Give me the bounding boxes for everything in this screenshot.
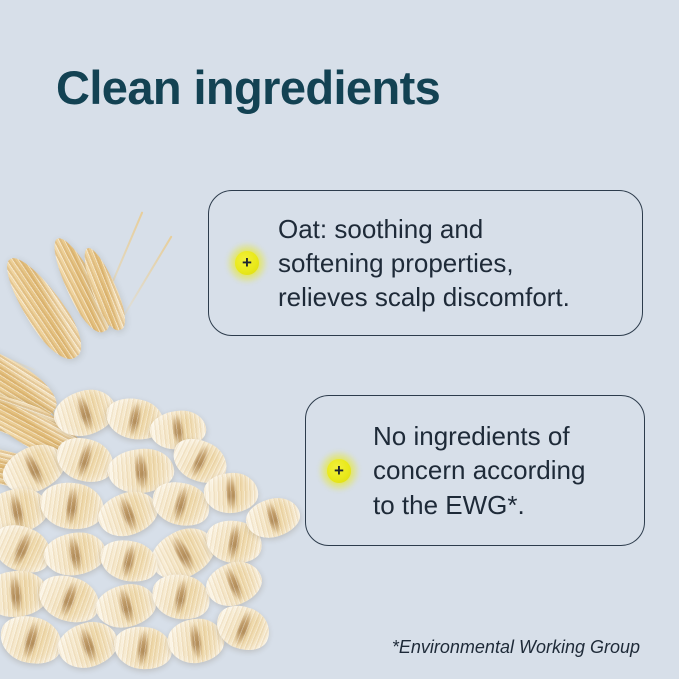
oat-flake [148, 477, 214, 532]
benefit-card-oat: + Oat: soothing and softening properties… [208, 190, 643, 336]
oat-flake [38, 480, 106, 532]
plus-badge: + [235, 251, 259, 275]
oat-husk [0, 248, 92, 367]
oat-flake [148, 407, 209, 452]
oat-flake [149, 570, 214, 623]
oat-husk [44, 232, 118, 338]
oat-husk [0, 327, 65, 427]
plus-icon: + [235, 251, 259, 275]
oat-husk [76, 244, 131, 335]
oat-awn [45, 404, 100, 469]
oat-flake [92, 578, 160, 633]
oat-flake [0, 435, 72, 503]
oat-flake [33, 568, 106, 629]
oat-flake [143, 518, 223, 590]
oat-husk [0, 381, 71, 453]
oat-flake [165, 615, 227, 666]
promo-graphic: Clean ingredients + Oat: soothing and so… [0, 0, 679, 679]
oat-flake [0, 568, 50, 620]
oat-flake [106, 446, 176, 497]
oat-flake [112, 624, 174, 672]
oat-flake [210, 599, 275, 657]
oat-flake [203, 517, 264, 566]
oat-flake [203, 471, 260, 515]
benefit-card-text: No ingredients of concern according to t… [373, 419, 585, 522]
oat-awn [0, 337, 35, 371]
oat-flake [53, 615, 124, 675]
oat-flake [93, 484, 164, 544]
oat-flake [0, 517, 58, 580]
oat-flake [200, 554, 268, 614]
plus-badge: + [327, 459, 351, 483]
oat-flake [242, 492, 304, 543]
benefit-card-ewg: + No ingredients of concern according to… [305, 395, 645, 546]
footnote: *Environmental Working Group [392, 637, 640, 658]
oat-flake [0, 610, 67, 670]
plus-icon: + [327, 459, 351, 483]
oat-flake [41, 528, 109, 580]
oat-flake [49, 382, 122, 443]
oat-husk [0, 435, 50, 494]
page-title: Clean ingredients [56, 63, 440, 114]
oat-flake [166, 431, 233, 490]
oat-awn [95, 211, 144, 322]
oat-flake [96, 535, 161, 586]
oat-husk [0, 390, 98, 476]
oat-flake [0, 483, 52, 539]
oat-awn [121, 235, 172, 318]
oat-flake [51, 432, 118, 488]
benefit-card-text: Oat: soothing and softening properties, … [278, 212, 570, 315]
oat-awn [0, 387, 55, 441]
oat-flake [103, 394, 167, 443]
